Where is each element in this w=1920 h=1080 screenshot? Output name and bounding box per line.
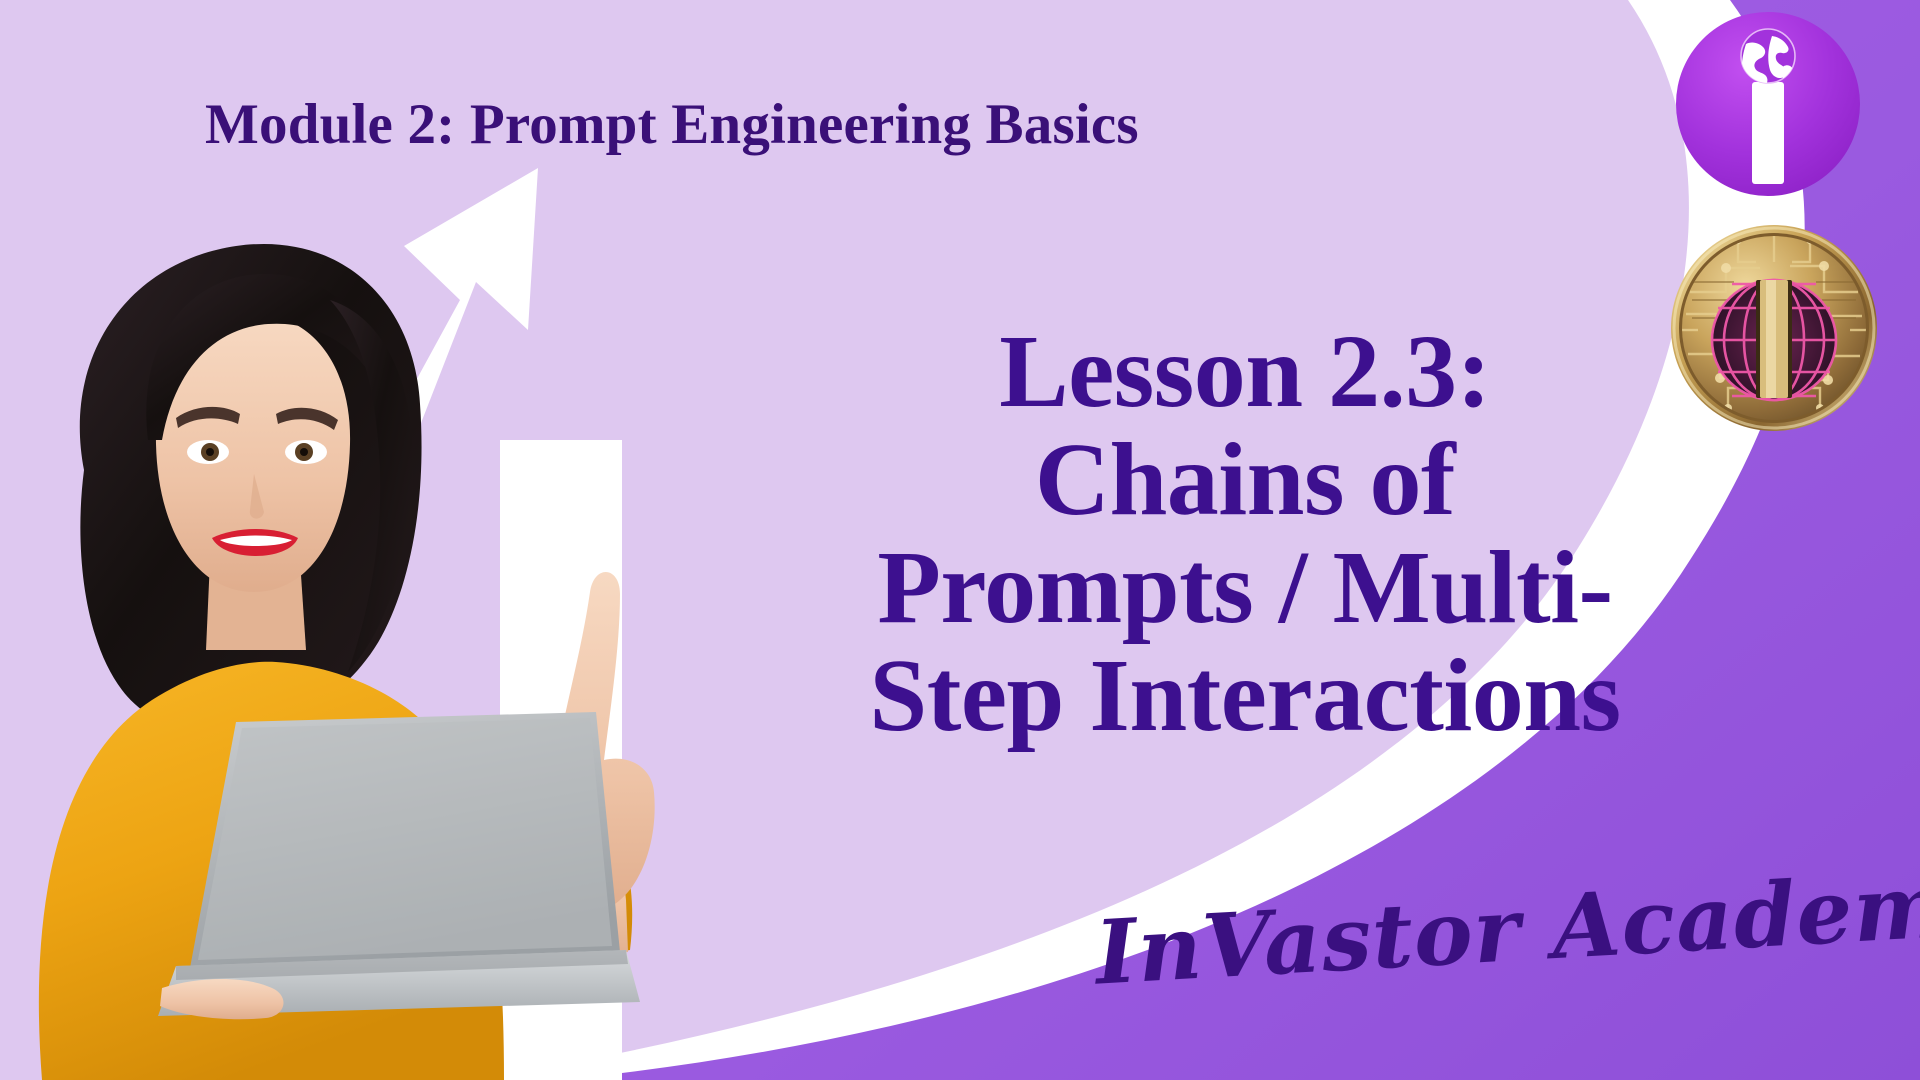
lesson-title-line-2: Chains of [760, 426, 1730, 534]
lesson-title-line-4: Step Interactions [760, 642, 1730, 750]
lesson-title-line-3: Prompts / Multi- [760, 534, 1730, 642]
laptop [158, 712, 640, 1016]
lesson-title-line-1: Lesson 2.3: [760, 318, 1730, 426]
invastor-logo-badge[interactable] [1672, 8, 1864, 200]
lesson-title: Lesson 2.3: Chains of Prompts / Multi- S… [760, 318, 1730, 751]
hero-photo-composite [0, 0, 820, 1080]
globe-grid-icon [1712, 280, 1836, 400]
invastor-gold-coin[interactable] [1668, 222, 1880, 434]
module-title: Module 2: Prompt Engineering Basics [205, 95, 1139, 155]
presentation-slide: Module 2: Prompt Engineering Basics Less… [0, 0, 1920, 1080]
